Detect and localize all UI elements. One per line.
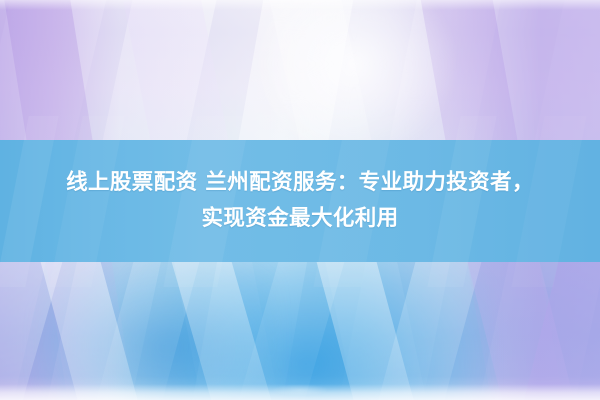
headline-band: 线上股票配资 兰州配资服务：专业助力投资者， 实现资金最大化利用	[0, 140, 600, 262]
watermark-mark	[271, 384, 329, 396]
band-streak-shape	[0, 116, 59, 287]
banner-image: 线上股票配资 兰州配资服务：专业助力投资者， 实现资金最大化利用	[0, 0, 600, 400]
headline-line-2: 实现资金最大化利用	[66, 201, 534, 237]
headline-text: 线上股票配资 兰州配资服务：专业助力投资者， 实现资金最大化利用	[66, 165, 534, 237]
background-top-veil	[0, 0, 600, 10]
headline-line-1: 线上股票配资 兰州配资服务：专业助力投资者，	[66, 165, 534, 201]
